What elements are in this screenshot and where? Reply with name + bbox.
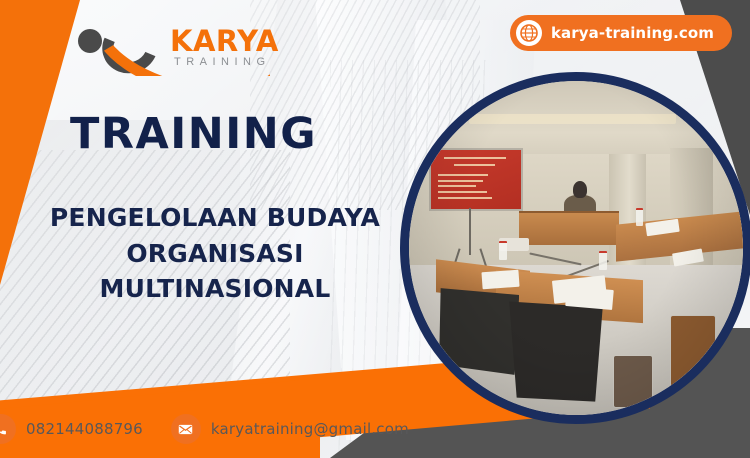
contact-footer: 082144088796 karyatraining@gmail.com — [0, 414, 409, 444]
logo-wordmark: KARYA — [170, 24, 279, 58]
phone-icon — [0, 414, 16, 444]
subtitle-line-3: MULTINASIONAL — [0, 271, 430, 307]
subtitle-line-2: ORGANISASI — [0, 236, 430, 272]
website-badge[interactable]: karya-training.com — [510, 15, 732, 51]
photo-vignette — [409, 81, 743, 415]
subtitle-line-1: PENGELOLAAN BUDAYA — [0, 200, 430, 236]
phone-number[interactable]: 082144088796 — [26, 420, 143, 438]
headline-block: TRAINING — [0, 112, 430, 157]
photo-circle-frame — [400, 72, 750, 424]
page-title: TRAINING — [70, 112, 430, 157]
brand-logo[interactable]: KARYA TRAINING — [78, 16, 278, 78]
training-room-photo — [409, 81, 743, 415]
logo-tagline: TRAINING — [174, 56, 271, 68]
globe-icon — [516, 20, 542, 46]
website-url-label: karya-training.com — [551, 24, 714, 42]
subtitle-block: PENGELOLAAN BUDAYA ORGANISASI MULTINASIO… — [0, 200, 430, 307]
email-address[interactable]: karyatraining@gmail.com — [211, 420, 409, 438]
training-flyer: KARYA TRAINING karya-training.com TRAINI… — [0, 0, 750, 458]
envelope-icon — [171, 414, 201, 444]
